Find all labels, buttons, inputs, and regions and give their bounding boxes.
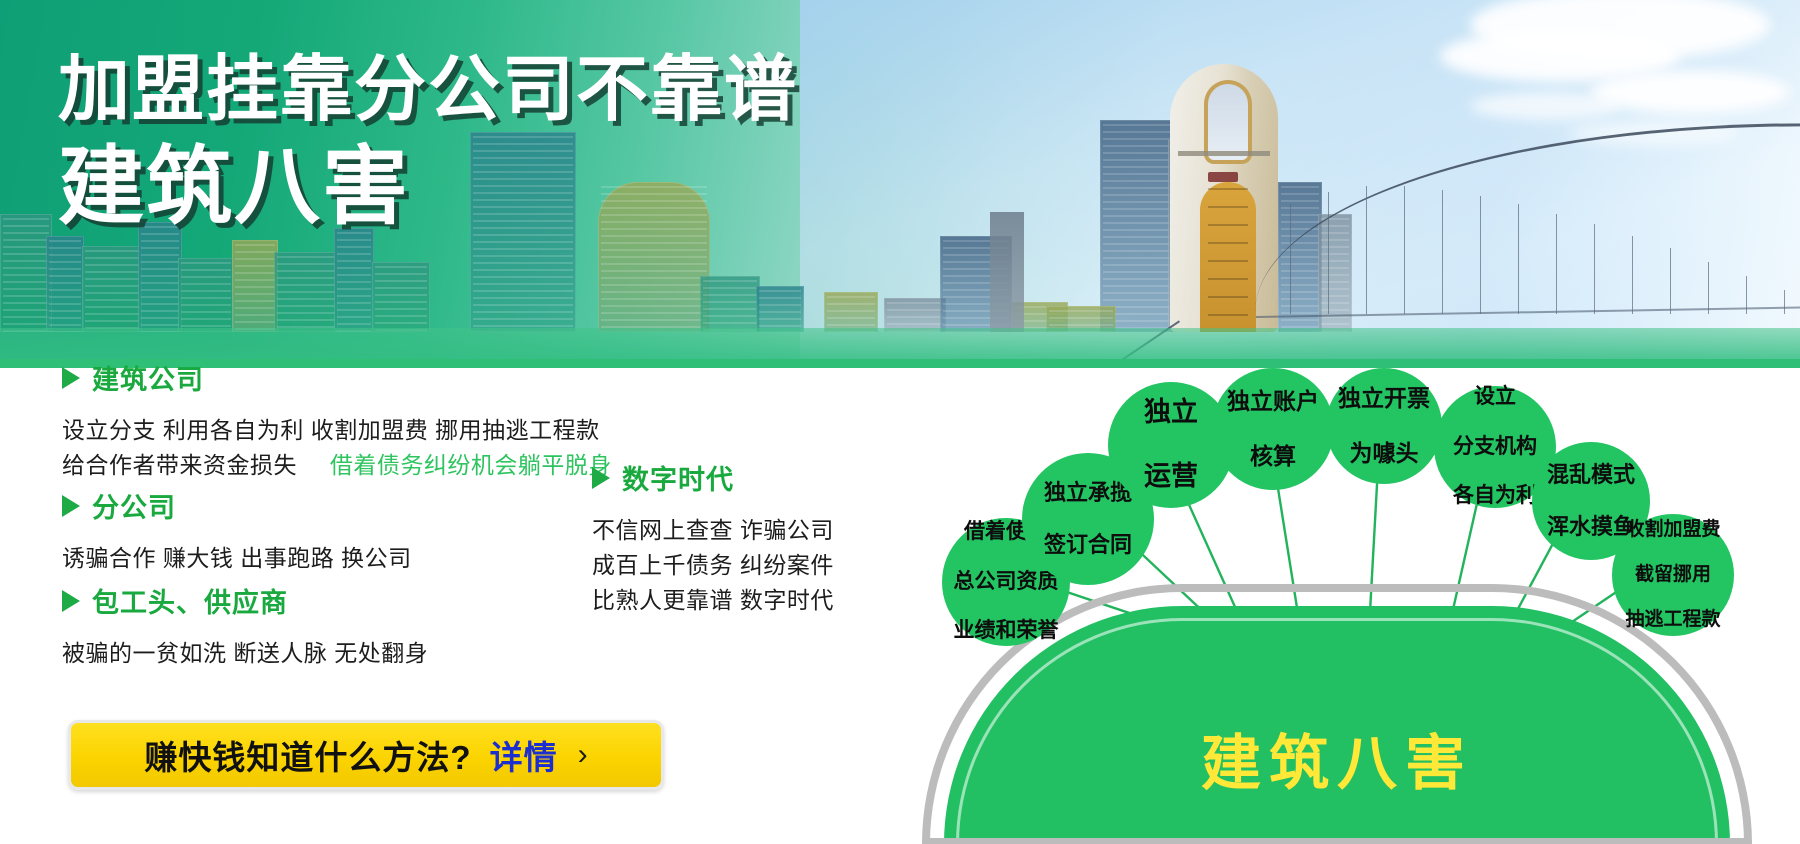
dome-baseline: [922, 838, 1752, 844]
section-body: 设立分支 利用各自为利 收割加盟费 挪用抽逃工程款 给合作者带来资金损失 借着债…: [62, 413, 612, 483]
bubble-8-text: 收割加盟费 截留挪用 抽逃工程款: [1625, 519, 1720, 631]
section-digital-era: 数字时代 不信网上查查 诈骗公司 成百上千债务 纠纷案件 比熟人更靠谱 数字时代: [592, 458, 834, 618]
triangle-bullet-icon: [592, 467, 610, 489]
hero-headline: 加盟挂靠分公司不靠谱 建筑八害: [58, 52, 798, 233]
hero-banner: 加盟挂靠分公司不靠谱 建筑八害: [0, 0, 1800, 368]
section-body: 被骗的一贫如洗 断送人脉 无处翻身: [62, 636, 428, 671]
section-title: 分公司: [92, 486, 176, 525]
bubble-2-text: 独立承揽 签订合同: [1044, 480, 1132, 558]
pylon-sign: [1208, 172, 1238, 182]
bubble-5[interactable]: 独立开票 为噱头: [1326, 368, 1442, 484]
bubble-4-text: 独立账户 核算: [1227, 388, 1319, 469]
bubble-8[interactable]: 收割加盟费 截留挪用 抽逃工程款: [1612, 514, 1734, 636]
dome-center-label: 建筑八害: [922, 715, 1752, 802]
section-header: 数字时代: [592, 458, 834, 497]
body-line: 被骗的一贫如洗 断送人脉 无处翻身: [62, 636, 428, 671]
pylon-lower-arch: [1200, 182, 1256, 332]
bridge-illustration: [1160, 42, 1800, 332]
triangle-bullet-icon: [62, 367, 80, 389]
bubble-7-text: 混乱模式 浑水摸鱼: [1547, 462, 1635, 540]
bridge-hangers: [1270, 139, 1800, 314]
headline-line-2: 建筑八害: [58, 142, 798, 233]
left-content: 建筑公司 设立分支 利用各自为利 收割加盟费 挪用抽逃工程款 给合作者带来资金损…: [0, 368, 900, 844]
section-title: 包工头、供应商: [92, 581, 288, 620]
cta-details-link[interactable]: 详情: [490, 731, 558, 779]
body-line-accent: 借着债务纠纷机会躺平脱身: [330, 452, 612, 478]
section-body: 不信网上查查 诈骗公司 成百上千债务 纠纷案件 比熟人更靠谱 数字时代: [592, 513, 834, 618]
chevron-right-icon: ›: [578, 738, 588, 772]
headline-line-1: 加盟挂靠分公司不靠谱: [58, 52, 798, 128]
section-header: 分公司: [62, 486, 412, 525]
bubble-6-text: 设立 分支机构 各自为利: [1453, 385, 1537, 509]
triangle-bullet-icon: [62, 495, 80, 517]
section-header: 包工头、供应商: [62, 581, 428, 620]
cta-main-text: 赚快钱知道什么方法?: [144, 731, 471, 779]
section-branch-company: 分公司 诱骗合作 赚大钱 出事跑路 换公司: [62, 486, 412, 576]
body-line: 不信网上查查 诈骗公司: [592, 513, 834, 548]
section-body: 诱骗合作 赚大钱 出事跑路 换公司: [62, 541, 412, 576]
body-line: 给合作者带来资金损失 借着债务纠纷机会躺平脱身: [62, 448, 612, 483]
body-line-plain: 给合作者带来资金损失: [62, 452, 297, 478]
body-line: 比熟人更靠谱 数字时代: [592, 583, 834, 618]
bubble-3-text: 独立 运营: [1144, 397, 1198, 493]
pylon-band: [1178, 151, 1270, 156]
section-header: 建筑公司: [62, 358, 612, 397]
body-line: 设立分支 利用各自为利 收割加盟费 挪用抽逃工程款: [62, 413, 612, 448]
section-title: 数字时代: [622, 458, 734, 497]
details-cta-button[interactable]: 赚快钱知道什么方法? 详情 ›: [68, 720, 664, 790]
section-contractor-supplier: 包工头、供应商 被骗的一贫如洗 断送人脉 无处翻身: [62, 581, 428, 671]
triangle-bullet-icon: [62, 590, 80, 612]
section-construction-company: 建筑公司 设立分支 利用各自为利 收割加盟费 挪用抽逃工程款 给合作者带来资金损…: [62, 358, 612, 483]
far-building: [990, 212, 1024, 332]
eight-harms-diagram: 建筑八害 借着使用 总公司资质 业绩和荣誉 独立承揽 签订合同 独立 运营: [900, 368, 1800, 844]
section-title: 建筑公司: [92, 358, 204, 397]
body-line: 诱骗合作 赚大钱 出事跑路 换公司: [62, 541, 412, 576]
bubble-4[interactable]: 独立账户 核算: [1212, 368, 1334, 490]
body-line: 成百上千债务 纠纷案件: [592, 548, 834, 583]
poster-root: 加盟挂靠分公司不靠谱 建筑八害 建筑公司 设立分支 利用各自为利 收割加盟费 挪…: [0, 0, 1800, 844]
bubble-5-text: 独立开票 为噱头: [1338, 385, 1430, 466]
